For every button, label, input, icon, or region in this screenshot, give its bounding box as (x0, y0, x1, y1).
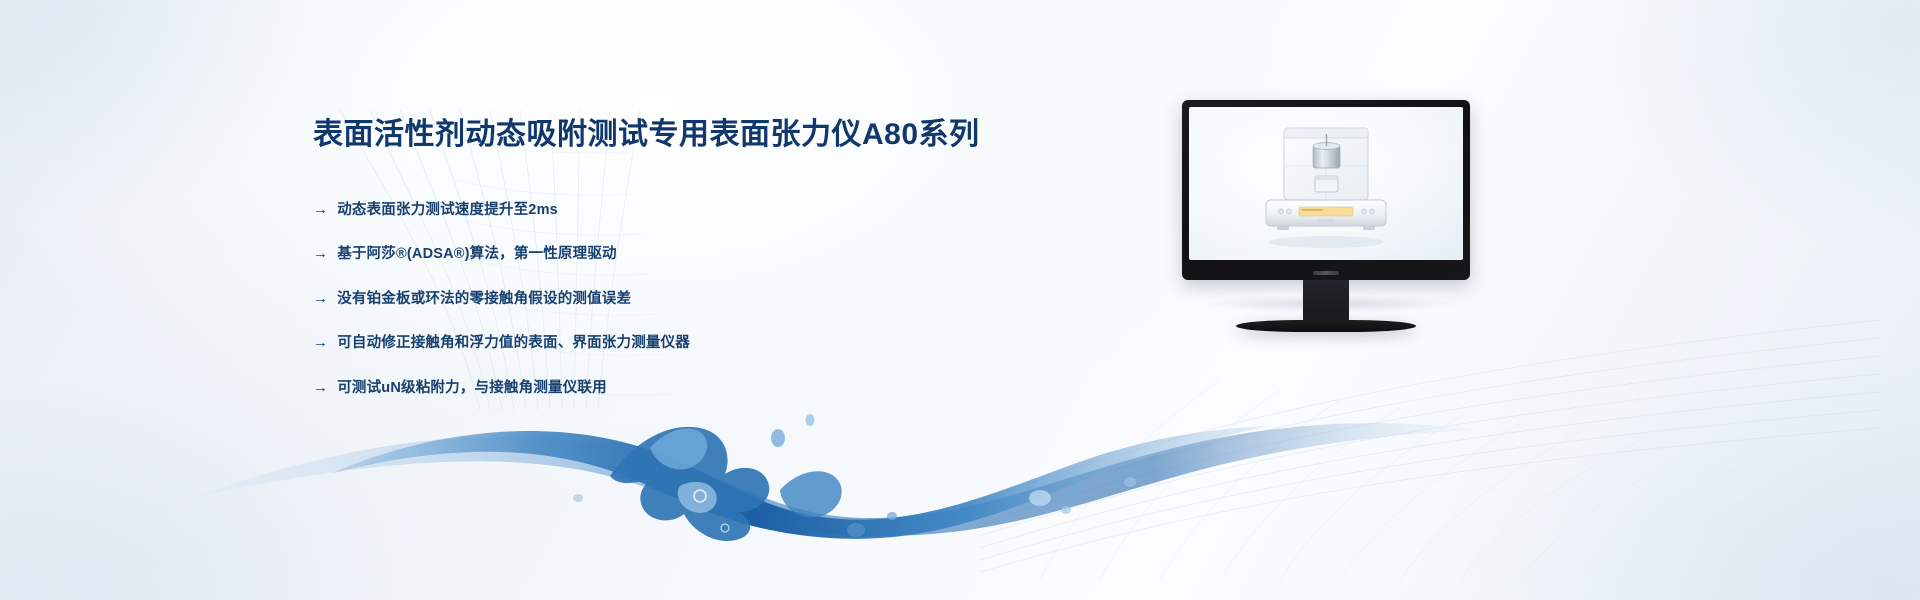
monitor-stand-base (1236, 320, 1416, 332)
list-item: → 基于阿莎®(ADSA®)算法，第一性原理驱动 (313, 242, 1013, 263)
list-item: → 可自动修正接触角和浮力值的表面、界面张力测量仪器 (313, 331, 1013, 352)
product-monitor (1182, 100, 1470, 332)
promotional-banner: 表面活性剂动态吸附测试专用表面张力仪A80系列 → 动态表面张力测试速度提升至2… (0, 0, 1920, 600)
monitor-brand-mark (1313, 271, 1339, 275)
feature-text: 动态表面张力测试速度提升至2ms (337, 198, 558, 219)
feature-text: 可自动修正接触角和浮力值的表面、界面张力测量仪器 (337, 331, 690, 352)
monitor-bezel (1182, 100, 1470, 280)
arrow-icon: → (313, 334, 328, 351)
arrow-icon: → (313, 245, 328, 262)
feature-text: 基于阿莎®(ADSA®)算法，第一性原理驱动 (337, 242, 617, 263)
arrow-icon: → (313, 379, 328, 396)
page-title: 表面活性剂动态吸附测试专用表面张力仪A80系列 (313, 116, 1013, 154)
feature-text: 没有铂金板或环法的零接触角假设的测值误差 (337, 287, 631, 308)
screen-sheen (1189, 107, 1463, 260)
banner-copy: 表面活性剂动态吸附测试专用表面张力仪A80系列 → 动态表面张力测试速度提升至2… (313, 96, 1013, 420)
arrow-icon: → (313, 201, 328, 218)
feature-text: 可测试uN级粘附力，与接触角测量仪联用 (337, 376, 607, 397)
monitor-screen (1189, 107, 1463, 260)
arrow-icon: → (313, 290, 328, 307)
feature-list: → 动态表面张力测试速度提升至2ms → 基于阿莎®(ADSA®)算法，第一性原… (313, 198, 1013, 397)
list-item: → 动态表面张力测试速度提升至2ms (313, 198, 1013, 219)
list-item: → 可测试uN级粘附力，与接触角测量仪联用 (313, 376, 1013, 397)
monitor-stand-neck (1303, 280, 1349, 320)
list-item: → 没有铂金板或环法的零接触角假设的测值误差 (313, 287, 1013, 308)
